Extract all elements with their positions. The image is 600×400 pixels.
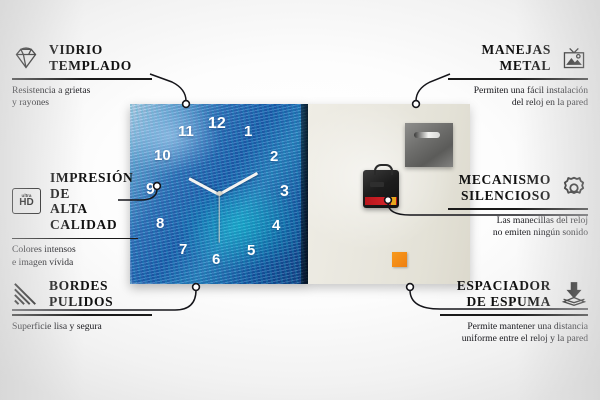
connector-manejas (416, 74, 450, 101)
callout-description: Colores intensos e imagen vívida (12, 244, 138, 269)
callout-description: Permiten una fácil instalación del reloj… (448, 85, 588, 110)
callout-mecanismo-silencioso: MECANISMO SILENCIOSO Las manecillas del … (448, 172, 588, 240)
mechanism-hook (374, 164, 393, 175)
callout-title: ESPACIADOR DE ESPUMA (457, 278, 551, 309)
callout-title: VIDRIO TEMPLADO (49, 42, 132, 73)
bevel-edge-icon (12, 281, 40, 307)
connector-dot-espaciador (407, 284, 414, 291)
minute-hand (218, 172, 258, 196)
hand-center-cap (217, 191, 222, 196)
ultra-hd-icon-large-text: HD (19, 198, 33, 209)
ultra-hd-icon: ultra HD (12, 188, 41, 214)
clock-numeral-4: 4 (272, 218, 280, 233)
callout-header: BORDES PULIDOS (12, 278, 152, 309)
callout-title: IMPRESIÓN DE ALTA CALIDAD (50, 170, 138, 233)
callout-rule (448, 78, 588, 79)
callout-description: Permite mantener una distancia uniforme … (440, 321, 588, 346)
callout-description: Resistencia a grietas y rayones (12, 85, 152, 110)
clock-numeral-6: 6 (212, 252, 220, 267)
clock-numeral-3: 3 (280, 184, 289, 200)
framed-picture-icon (560, 45, 588, 71)
callout-rule (12, 238, 138, 239)
mechanism-chip (391, 197, 396, 205)
clock-numeral-8: 8 (156, 216, 164, 231)
callout-description: Superficie lisa y segura (12, 321, 152, 334)
callout-espaciador-espuma: ESPACIADOR DE ESPUMA Permite mantener un… (440, 278, 588, 346)
callout-header: MANEJAS METAL (448, 42, 588, 73)
second-hand (218, 195, 219, 243)
callout-header: MECANISMO SILENCIOSO (448, 172, 588, 203)
callout-manejas-metal: MANEJAS METAL Permiten una fácil instala… (448, 42, 588, 110)
callout-bordes-pulidos: BORDES PULIDOS Superficie lisa y segura (12, 278, 152, 333)
callout-rule (440, 314, 588, 315)
clock-numeral-11: 11 (178, 124, 194, 139)
foam-spacer-icon (560, 281, 588, 307)
hanger-slot (414, 132, 440, 138)
connector-vidrio-templado (150, 74, 186, 101)
callout-description: Las manecillas del reloj no emiten ningú… (448, 215, 588, 240)
callout-vidrio-templado: VIDRIO TEMPLADO Resistencia a grietas y … (12, 42, 152, 110)
callout-header: ultra HD IMPRESIÓN DE ALTA CALIDAD (12, 170, 138, 233)
clock-numeral-5: 5 (247, 243, 255, 258)
callout-title: MANEJAS METAL (482, 42, 551, 73)
mechanism-detail (370, 182, 384, 187)
foam-spacer (392, 252, 407, 267)
callout-rule (448, 208, 588, 209)
clock-back-panel (308, 104, 470, 284)
infographic-canvas: 12 1 2 3 4 5 6 7 8 9 10 11 (0, 0, 600, 400)
product-photo: 12 1 2 3 4 5 6 7 8 9 10 11 (130, 104, 470, 284)
clock-numeral-12: 12 (208, 116, 226, 132)
hour-hand (188, 177, 219, 196)
callout-header: VIDRIO TEMPLADO (12, 42, 152, 73)
clock-front-face: 12 1 2 3 4 5 6 7 8 9 10 11 (130, 104, 308, 284)
callout-rule (12, 78, 152, 79)
callout-impresion-alta-calidad: ultra HD IMPRESIÓN DE ALTA CALIDAD Color… (12, 170, 138, 269)
connector-dot-bordes (193, 284, 200, 291)
clock-numeral-2: 2 (270, 149, 278, 164)
clock-numeral-9: 9 (146, 182, 155, 198)
callout-title: BORDES PULIDOS (49, 278, 113, 309)
diamond-icon (12, 45, 40, 71)
callout-rule (12, 314, 152, 315)
callout-title: MECANISMO SILENCIOSO (459, 172, 551, 203)
quartz-mechanism (363, 170, 399, 208)
metal-hanger-plate (405, 123, 453, 167)
clock-numeral-10: 10 (154, 148, 171, 163)
callout-header: ESPACIADOR DE ESPUMA (440, 278, 588, 309)
clock-numeral-1: 1 (244, 124, 252, 139)
clock-numeral-7: 7 (179, 242, 187, 257)
gear-icon (560, 175, 588, 201)
